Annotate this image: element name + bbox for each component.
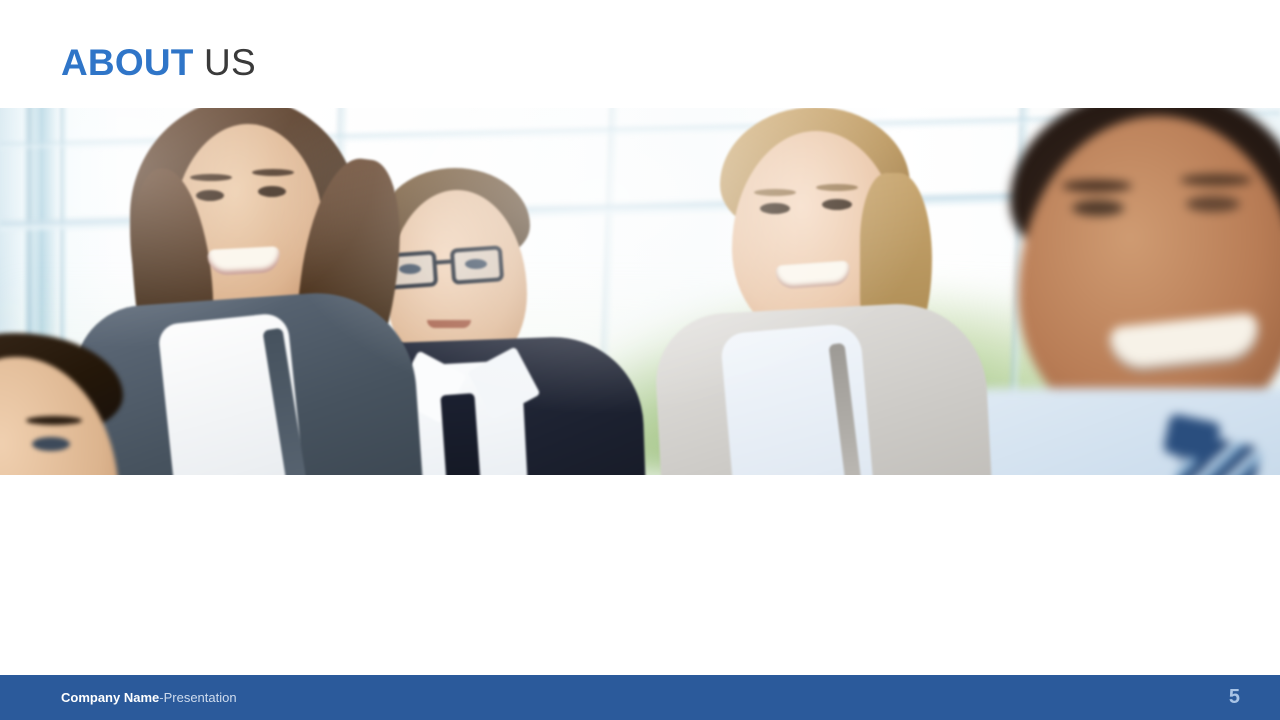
eye [760,203,790,214]
page-title-accent: ABOUT [61,42,194,83]
slide: ABOUT US [0,0,1280,720]
footer-label: Company Name - Presentation [61,675,237,720]
slide-footer: Company Name - Presentation 5 [0,675,1280,720]
footer-company-name: Company Name [61,690,159,705]
eye [258,186,286,197]
eye [196,190,224,201]
eye [1072,200,1124,216]
eyebrow [754,189,796,196]
lower-content-area: The Team of People Behind Company This i… [0,475,1280,675]
eye [822,199,852,210]
person-blonde-woman [690,113,1010,475]
eyebrow [1180,174,1252,186]
page-title-rest: US [194,42,256,83]
eyebrow [816,184,858,191]
eyebrow [1062,180,1132,192]
title-bar: ABOUT US [0,0,1280,108]
eye [32,437,70,451]
footer-subtitle: Presentation [164,690,237,705]
page-title: ABOUT US [61,44,256,81]
eyebrow [252,169,294,176]
eyebrow [26,416,82,425]
eyebrow [190,174,232,181]
person-right-man [990,108,1280,475]
person-bearded-man [0,333,200,475]
photo-scene [0,108,1280,475]
page-number: 5 [1229,675,1240,720]
eye [465,259,487,269]
business-team-photo [0,108,1280,475]
eye [1186,196,1240,212]
